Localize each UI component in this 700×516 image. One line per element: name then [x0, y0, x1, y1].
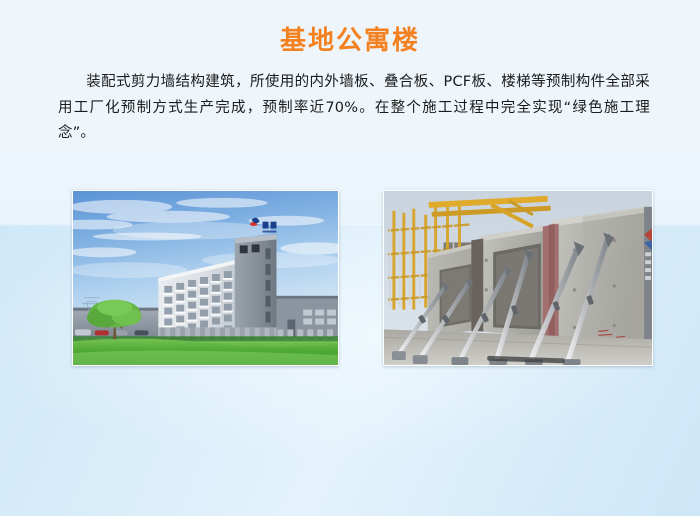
slide-canvas: 基地公寓楼 装配式剪力墙结构建筑，所使用的内外墙板、叠合板、PCF板、楼梯等预制…	[0, 0, 700, 516]
body-paragraph-text: 装配式剪力墙结构建筑，所使用的内外墙板、叠合板、PCF板、楼梯等预制构件全部采用…	[58, 74, 650, 141]
apartment-building-illustration	[73, 191, 338, 365]
body-paragraph: 装配式剪力墙结构建筑，所使用的内外墙板、叠合板、PCF板、楼梯等预制构件全部采用…	[58, 70, 650, 147]
precast-wall-construction-photo[interactable]	[383, 190, 653, 366]
apartment-building-photo[interactable]	[72, 190, 339, 366]
page-title: 基地公寓楼	[0, 24, 700, 58]
precast-wall-illustration	[384, 191, 652, 365]
